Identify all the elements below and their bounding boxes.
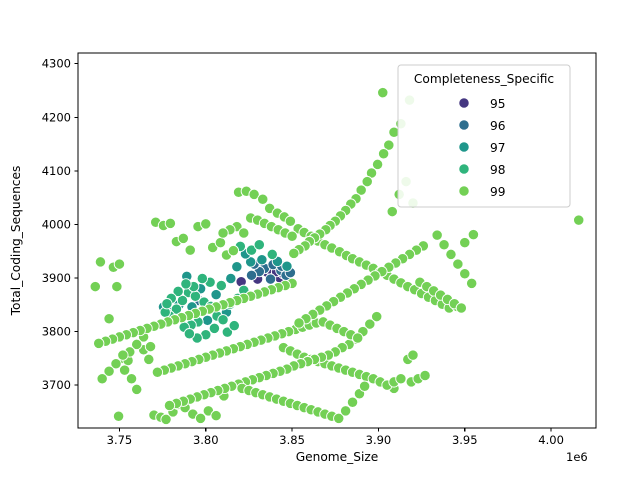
y-tick-label: 4000 (42, 217, 71, 231)
data-point (94, 338, 104, 348)
data-point (215, 237, 225, 247)
legend-label-95: 95 (490, 97, 506, 111)
x-tick-label: 3.75 (107, 433, 133, 447)
y-tick-label: 4100 (42, 164, 71, 178)
data-point (232, 262, 242, 272)
data-point (294, 318, 304, 328)
data-point (114, 259, 124, 269)
data-point (112, 281, 122, 291)
y-axis-label: Total_Coding_Sequences (9, 166, 23, 317)
x-axis-label: Genome_Size (296, 450, 379, 464)
data-point (211, 410, 221, 420)
data-point (90, 281, 100, 291)
data-point (195, 413, 205, 423)
data-point (258, 194, 268, 204)
data-point (119, 365, 129, 375)
data-point (216, 280, 226, 290)
legend: Completeness_Specific9596979899 (398, 65, 570, 207)
data-point (289, 248, 299, 258)
legend-box (398, 65, 570, 207)
data-point (257, 255, 267, 265)
data-point (178, 233, 188, 243)
data-point (372, 311, 382, 321)
data-point (144, 354, 154, 364)
data-point (420, 370, 430, 380)
data-point (228, 245, 238, 255)
data-point (408, 350, 418, 360)
legend-label-96: 96 (490, 119, 506, 133)
figure-canvas: 3.753.803.853.903.954.003700380039004000… (0, 0, 640, 480)
data-point (453, 259, 463, 269)
legend-label-98: 98 (490, 163, 506, 177)
data-point (201, 219, 211, 229)
data-point (287, 231, 297, 241)
y-tick-label: 4200 (42, 110, 71, 124)
data-point (254, 240, 264, 250)
x-tick-label: 3.85 (279, 433, 305, 447)
data-point (185, 245, 195, 255)
data-point (340, 406, 350, 416)
data-point (460, 237, 470, 247)
data-point (197, 273, 207, 283)
legend-label-97: 97 (490, 141, 506, 155)
data-point (353, 333, 363, 343)
data-point (466, 278, 476, 288)
data-point (181, 279, 191, 289)
data-point (265, 274, 275, 284)
y-tick-label: 3900 (42, 271, 71, 285)
data-point (456, 303, 466, 313)
data-point (218, 315, 228, 325)
data-point (574, 215, 584, 225)
data-point (378, 149, 388, 159)
data-point (152, 367, 162, 377)
data-point (239, 228, 249, 238)
x-tick-label: 3.95 (452, 433, 478, 447)
legend-marker-96[interactable] (459, 120, 469, 130)
data-point (359, 381, 369, 391)
data-point (162, 299, 172, 309)
data-point (165, 218, 175, 228)
legend-label-99: 99 (490, 185, 506, 199)
data-point (164, 400, 174, 410)
data-point (145, 341, 155, 351)
data-point (387, 206, 397, 216)
legend-marker-99[interactable] (459, 186, 469, 196)
data-point (229, 320, 239, 330)
data-point (246, 270, 256, 280)
x-tick-label: 4.00 (538, 433, 564, 447)
y-tick-label: 4300 (42, 57, 71, 71)
data-point (211, 289, 221, 299)
data-point (347, 397, 357, 407)
data-point (432, 230, 442, 240)
data-point (468, 229, 478, 239)
data-point (378, 87, 388, 97)
x-tick-label: 3.90 (366, 433, 392, 447)
data-point (104, 314, 114, 324)
data-point (439, 240, 449, 250)
x-tick-label: 3.80 (193, 433, 219, 447)
x-axis-offset-text: 1e6 (566, 450, 588, 464)
data-point (285, 216, 295, 226)
data-point (97, 374, 107, 384)
legend-marker-95[interactable] (459, 98, 469, 108)
data-point (396, 374, 406, 384)
legend-title: Completeness_Specific (414, 72, 554, 86)
y-tick-label: 3800 (42, 325, 71, 339)
data-point (226, 273, 236, 283)
data-point (184, 329, 194, 339)
legend-marker-97[interactable] (459, 142, 469, 152)
data-point (460, 269, 470, 279)
data-point (95, 257, 105, 267)
data-point (118, 350, 128, 360)
data-point (282, 261, 292, 271)
legend-marker-98[interactable] (459, 164, 469, 174)
y-tick-label: 3700 (42, 378, 71, 392)
data-point (218, 228, 228, 238)
data-point (132, 384, 142, 394)
scatter-plot: 3.753.803.853.903.954.003700380039004000… (0, 0, 640, 480)
data-point (446, 249, 456, 259)
data-point (267, 249, 277, 259)
data-point (126, 374, 136, 384)
data-point (113, 411, 123, 421)
data-point (209, 323, 219, 333)
